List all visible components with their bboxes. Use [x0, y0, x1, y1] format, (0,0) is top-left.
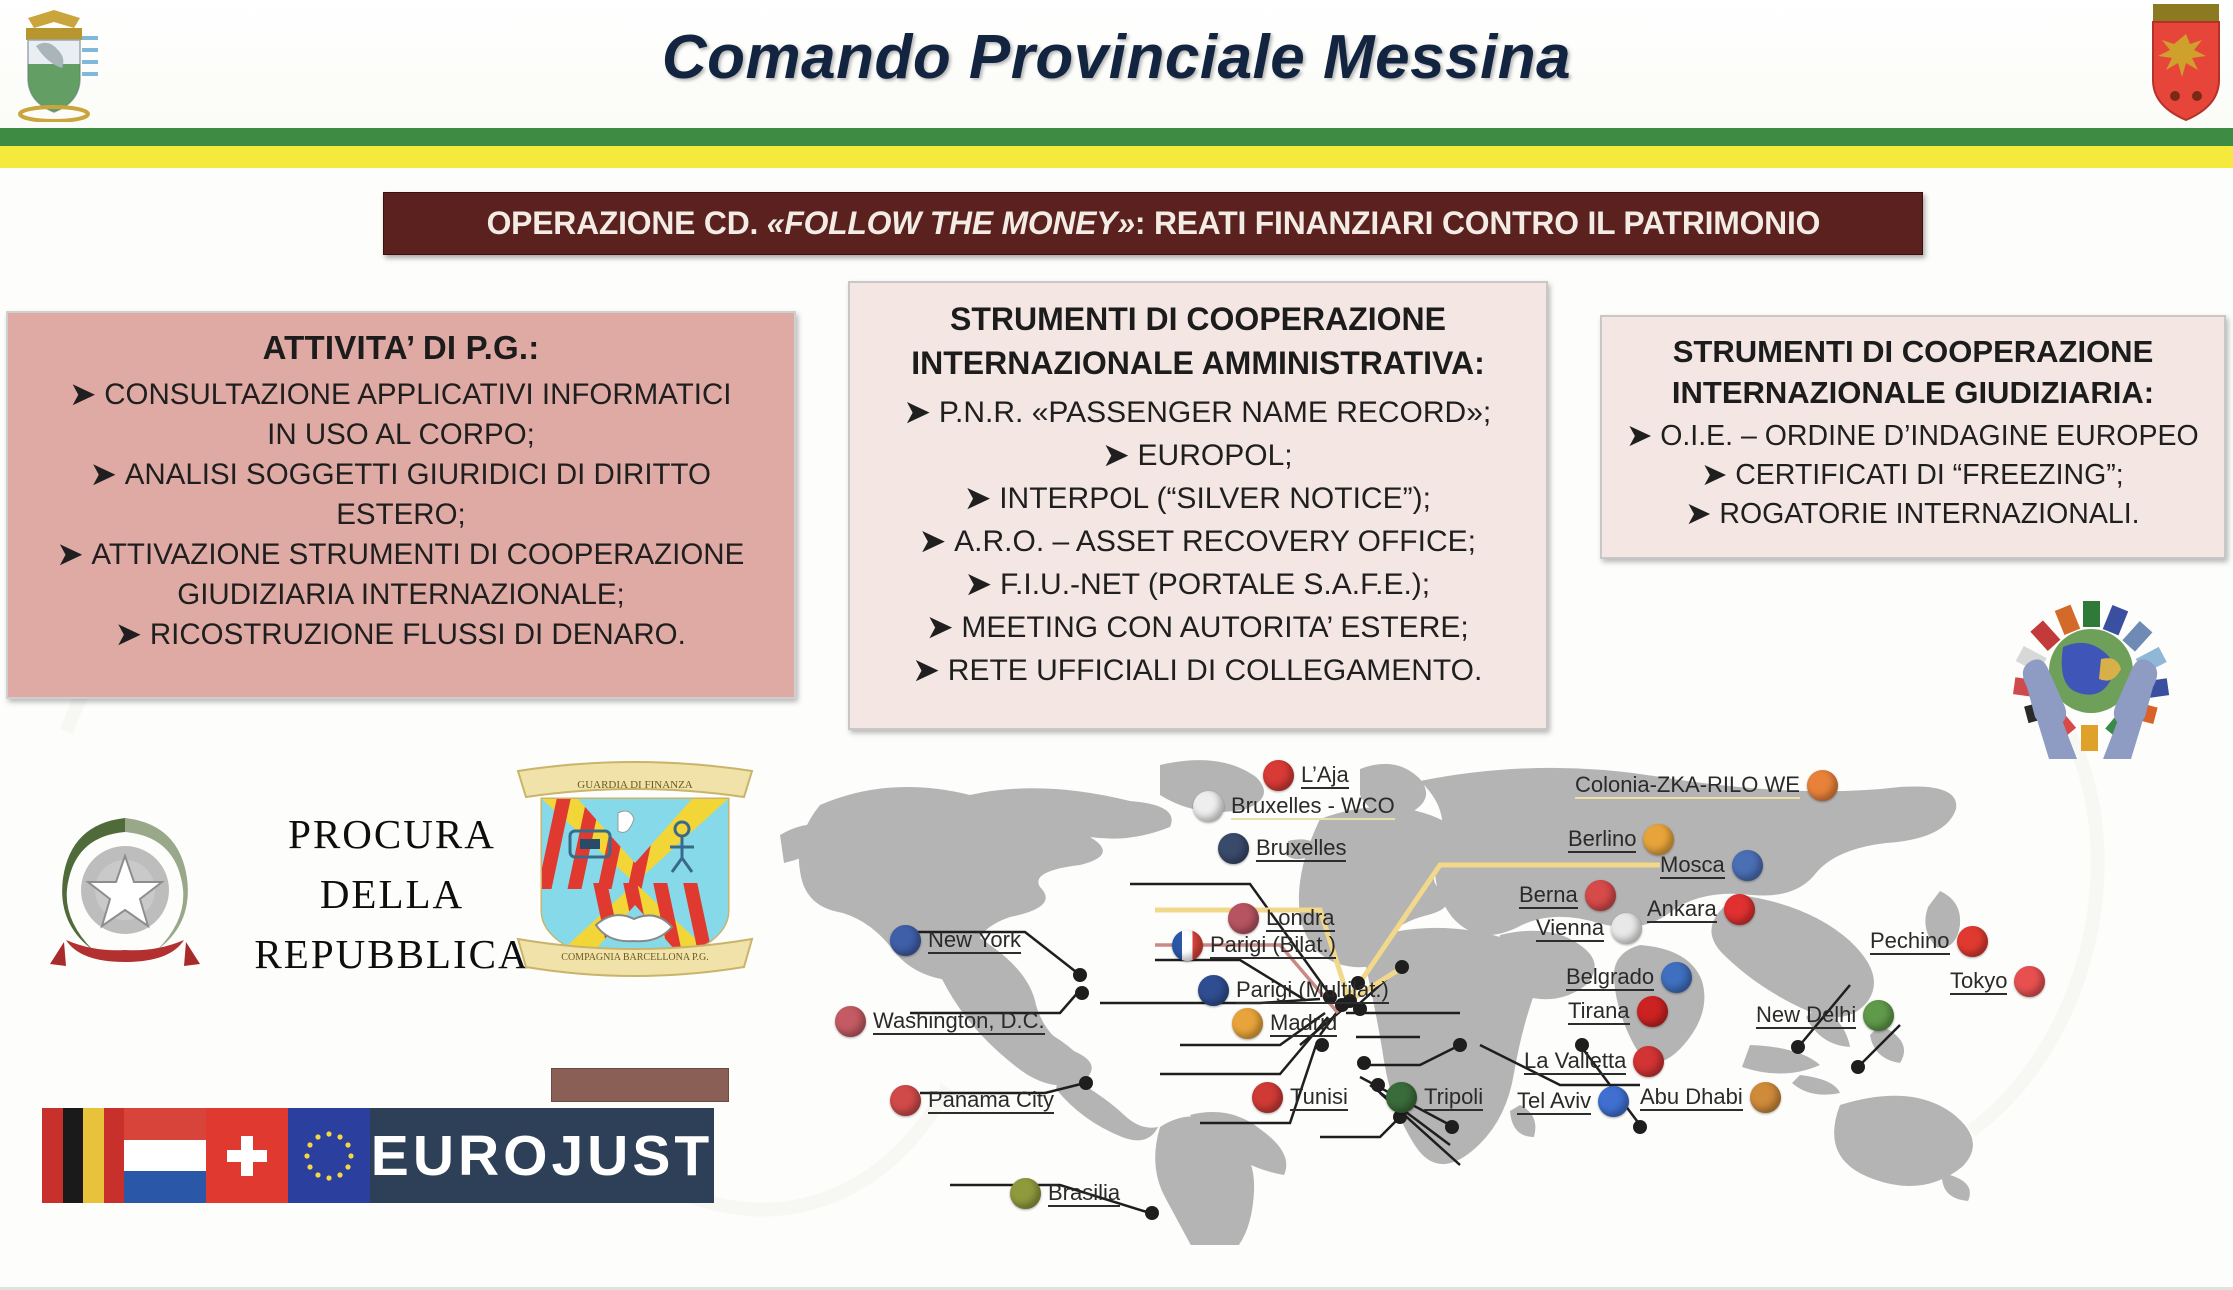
- india-flag-icon: [1863, 1000, 1894, 1031]
- map-city-tirana[interactable]: Tirana: [1568, 996, 1668, 1027]
- city-label: Tripoli: [1424, 1085, 1483, 1111]
- city-label: Brasilia: [1048, 1181, 1120, 1207]
- list-item: ➤ATTIVAZIONE STRUMENTI DI COOPERAZIONE: [18, 535, 784, 575]
- list-item-label: INTERPOL (“SILVER NOTICE”);: [999, 482, 1431, 515]
- city-label: Bruxelles - WCO: [1231, 794, 1395, 820]
- map-city-belgrado[interactable]: Belgrado: [1566, 962, 1692, 993]
- bullet-arrow-icon: ➤: [920, 525, 945, 558]
- list-item: ➤CONSULTAZIONE APPLICATIVI INFORMATICI: [18, 375, 784, 415]
- title-line-1: STRUMENTI DI COOPERAZIONE: [858, 297, 1538, 341]
- map-city-bruxelles-wco[interactable]: Bruxelles - WCO: [1193, 791, 1395, 822]
- list-item: ➤O.I.E. – ORDINE D’INDAGINE EUROPEO: [1610, 417, 2216, 456]
- banner-prefix: OPERAZIONE CD.: [486, 205, 766, 241]
- list-item-label: P.N.R. «PASSENGER NAME RECORD»;: [939, 396, 1491, 429]
- eurojust-wordmark: EUROJUST: [370, 1108, 714, 1203]
- svg-text:GUARDIA DI FINANZA: GUARDIA DI FINANZA: [577, 779, 693, 791]
- list-item-label: GIUDIZIARIA INTERNAZIONALE;: [177, 578, 624, 611]
- map-city-bruxelles[interactable]: Bruxelles: [1218, 833, 1346, 864]
- israel-flag-icon: [1598, 1086, 1629, 1117]
- map-city-parigi-multilat[interactable]: Parigi (Multilat.): [1198, 975, 1389, 1006]
- city-label: Abu Dhabi: [1640, 1085, 1743, 1111]
- city-label: Panama City: [928, 1088, 1054, 1114]
- switzerland-flag-icon: [206, 1108, 288, 1203]
- bullet-arrow-icon: ➤: [1686, 498, 1710, 530]
- box-attivita-pg-title: ATTIVITA’ DI P.G.:: [18, 329, 784, 367]
- map-city-washington-dc[interactable]: Washington, D.C.: [835, 1006, 1045, 1037]
- list-item-label: ATTIVAZIONE STRUMENTI DI COOPERAZIONE: [91, 538, 744, 571]
- city-label: Berna: [1519, 883, 1578, 909]
- map-city-tel-aviv[interactable]: Tel Aviv: [1517, 1086, 1629, 1117]
- bullet-arrow-icon: ➤: [91, 458, 116, 491]
- box-cooperazione-amministrativa-title: STRUMENTI DI COOPERAZIONE INTERNAZIONALE…: [858, 297, 1538, 385]
- list-item-label: IN USO AL CORPO;: [267, 418, 535, 451]
- map-city-new-york[interactable]: New York: [890, 925, 1021, 956]
- france-multilat-flag-icon: [1198, 975, 1229, 1006]
- map-city-berna[interactable]: Berna: [1519, 880, 1616, 911]
- title-line-2: INTERNAZIONALE AMMINISTRATIVA:: [858, 341, 1538, 385]
- map-city-panama-city[interactable]: Panama City: [890, 1085, 1054, 1116]
- box-cooperazione-giudiziaria: STRUMENTI DI COOPERAZIONE INTERNAZIONALE…: [1600, 315, 2226, 559]
- map-city-laja[interactable]: L’Aja: [1263, 760, 1349, 791]
- city-label: New Delhi: [1756, 1003, 1856, 1029]
- decorative-brown-bar: [551, 1068, 729, 1102]
- bullet-arrow-icon: ➤: [905, 396, 930, 429]
- map-city-colonia-zka-rilo-we[interactable]: Colonia-ZKA-RILO WE: [1575, 770, 1838, 801]
- map-city-la-valletta[interactable]: La Valletta: [1524, 1046, 1664, 1077]
- map-city-madrid[interactable]: Madrid: [1232, 1008, 1337, 1039]
- city-label: La Valletta: [1524, 1049, 1626, 1075]
- procura-line-1: PROCURA: [242, 804, 542, 864]
- operation-banner: OPERAZIONE CD. «FOLLOW THE MONEY»: REATI…: [383, 192, 1923, 255]
- germany-rilo-flag-icon: [1807, 770, 1838, 801]
- box-cooperazione-giudiziaria-title: STRUMENTI DI COOPERAZIONE INTERNAZIONALE…: [1610, 331, 2216, 413]
- map-city-parigi-bilat[interactable]: Parigi (Bilat.): [1172, 930, 1336, 961]
- switzerland-flag-icon: [1585, 880, 1616, 911]
- eurojust-logo: EUROJUST: [42, 1108, 714, 1203]
- list-item: IN USO AL CORPO;: [18, 415, 784, 455]
- list-item: ➤F.I.U.-NET (PORTALE S.A.F.E.);: [858, 563, 1538, 606]
- map-city-tripoli[interactable]: Tripoli: [1386, 1082, 1483, 1113]
- panama-city-flag-icon: [890, 1085, 921, 1116]
- map-city-ankara[interactable]: Ankara: [1647, 894, 1755, 925]
- map-city-tunisi[interactable]: Tunisi: [1252, 1082, 1348, 1113]
- city-label: Tel Aviv: [1517, 1089, 1591, 1115]
- list-item-label: O.I.E. – ORDINE D’INDAGINE EUROPEO: [1660, 420, 2198, 452]
- list-item: ➤EUROPOL;: [858, 434, 1538, 477]
- list-item-label: ANALISI SOGGETTI GIURIDICI DI DIRITTO: [125, 458, 711, 491]
- bullet-arrow-icon: ➤: [1702, 459, 1726, 491]
- city-label: New York: [928, 928, 1021, 954]
- procura-della-repubblica-logo: PROCURA DELLA REPUBBLICA: [30, 800, 540, 990]
- list-item-label: A.R.O. – ASSET RECOVERY OFFICE;: [954, 525, 1476, 558]
- austria-flag-icon: [1611, 913, 1642, 944]
- guardia-di-finanza-compagnia-crest-icon: GUARDIA DI FINANZA: [500, 755, 770, 980]
- list-item-label: ESTERO;: [336, 498, 466, 531]
- list-item: ➤RICOSTRUZIONE FLUSSI DI DENARO.: [18, 615, 784, 655]
- header-stripe-green: [0, 128, 2233, 146]
- bullet-arrow-icon: ➤: [927, 611, 952, 644]
- city-label: Tunisi: [1290, 1085, 1348, 1111]
- japan-flag-icon: [2014, 966, 2045, 997]
- city-label: Tokyo: [1950, 969, 2007, 995]
- list-item: ➤ANALISI SOGGETTI GIURIDICI DI DIRITTO: [18, 455, 784, 495]
- list-item: ➤P.N.R. «PASSENGER NAME RECORD»;: [858, 391, 1538, 434]
- european-union-flag-icon: [288, 1108, 370, 1203]
- procura-line-2: DELLA: [242, 864, 542, 924]
- netherlands-flag-icon: [1263, 760, 1294, 791]
- city-label: Parigi (Bilat.): [1210, 933, 1336, 959]
- map-city-pechino[interactable]: Pechino: [1870, 926, 1988, 957]
- bullet-arrow-icon: ➤: [116, 618, 141, 651]
- city-label: Belgrado: [1566, 965, 1654, 991]
- operation-banner-text: OPERAZIONE CD. «FOLLOW THE MONEY»: REATI…: [486, 205, 1820, 242]
- city-label: Mosca: [1660, 853, 1725, 879]
- list-item-label: CERTIFICATI DI “FREEZING”;: [1735, 459, 2123, 491]
- page-header: Comando Provinciale Messina: [0, 0, 2233, 128]
- turkey-flag-icon: [1724, 894, 1755, 925]
- box-cooperazione-amministrativa-list: ➤P.N.R. «PASSENGER NAME RECORD»; ➤EUROPO…: [858, 391, 1538, 692]
- list-item-label: CONSULTAZIONE APPLICATIVI INFORMATICI: [104, 378, 731, 411]
- city-label: Madrid: [1270, 1011, 1337, 1037]
- bullet-arrow-icon: ➤: [914, 654, 939, 687]
- bullet-arrow-icon: ➤: [71, 378, 96, 411]
- list-item: ➤CERTIFICATI DI “FREEZING”;: [1610, 456, 2216, 495]
- procura-label-block: PROCURA DELLA REPUBBLICA: [242, 804, 542, 984]
- city-label: Washington, D.C.: [873, 1009, 1045, 1035]
- box-cooperazione-giudiziaria-list: ➤O.I.E. – ORDINE D’INDAGINE EUROPEO ➤CER…: [1610, 417, 2216, 534]
- list-item: GIUDIZIARIA INTERNAZIONALE;: [18, 575, 784, 615]
- map-city-mosca[interactable]: Mosca: [1660, 850, 1763, 881]
- map-city-new-delhi[interactable]: New Delhi: [1756, 1000, 1894, 1031]
- banner-operation-name: «FOLLOW THE MONEY»: [766, 205, 1134, 241]
- spain-flag-icon: [1232, 1008, 1263, 1039]
- list-item: ➤A.R.O. – ASSET RECOVERY OFFICE;: [858, 520, 1538, 563]
- list-item: ➤INTERPOL (“SILVER NOTICE”);: [858, 477, 1538, 520]
- city-label: Ankara: [1647, 897, 1717, 923]
- serbia-flag-icon: [1661, 962, 1692, 993]
- list-item: ➤ROGATORIE INTERNAZIONALI.: [1610, 495, 2216, 534]
- belgium-flag-icon: [42, 1108, 124, 1203]
- uae-flag-icon: [1750, 1082, 1781, 1113]
- map-city-berlino[interactable]: Berlino: [1568, 824, 1674, 855]
- libya-flag-icon: [1386, 1082, 1417, 1113]
- france-flag-icon: [1172, 930, 1203, 961]
- tunisia-flag-icon: [1252, 1082, 1283, 1113]
- list-item-label: RICOSTRUZIONE FLUSSI DI DENARO.: [150, 618, 686, 651]
- page-title: Comando Provinciale Messina: [0, 22, 2233, 93]
- city-label: Tirana: [1568, 999, 1630, 1025]
- city-label: Pechino: [1870, 929, 1950, 955]
- bruxelles-flag-icon: [1218, 833, 1249, 864]
- brasilia-flag-icon: [1010, 1178, 1041, 1209]
- city-label: L’Aja: [1301, 763, 1349, 789]
- list-item-label: RETE UFFICIALI DI COLLEGAMENTO.: [948, 654, 1483, 687]
- list-item-label: ROGATORIE INTERNAZIONALI.: [1719, 498, 2139, 530]
- box-cooperazione-amministrativa: STRUMENTI DI COOPERAZIONE INTERNAZIONALE…: [848, 281, 1548, 730]
- svg-text:COMPAGNIA BARCELLONA P.G.: COMPAGNIA BARCELLONA P.G.: [561, 952, 708, 963]
- city-label: Bruxelles: [1256, 836, 1346, 862]
- guardia-di-finanza-eagle-shield-icon: [2131, 0, 2227, 122]
- title-line-2: INTERNAZIONALE GIUDIZIARIA:: [1610, 372, 2216, 413]
- bullet-arrow-icon: ➤: [1103, 439, 1128, 472]
- bullet-arrow-icon: ➤: [58, 538, 83, 571]
- city-label: Parigi (Multilat.): [1236, 978, 1389, 1004]
- title-line-1: STRUMENTI DI COOPERAZIONE: [1610, 331, 2216, 372]
- city-label: Berlino: [1568, 827, 1636, 853]
- bullet-arrow-icon: ➤: [1627, 420, 1651, 452]
- list-item: ESTERO;: [18, 495, 784, 535]
- netherlands-flag-icon: [124, 1108, 206, 1203]
- russia-flag-icon: [1732, 850, 1763, 881]
- city-label: Vienna: [1536, 916, 1604, 942]
- map-city-abu-dhabi[interactable]: Abu Dhabi: [1640, 1082, 1781, 1113]
- china-flag-icon: [1957, 926, 1988, 957]
- washington-dc-flag-icon: [835, 1006, 866, 1037]
- globe-with-flags-in-hands-icon: [1975, 595, 2205, 760]
- map-city-vienna[interactable]: Vienna: [1536, 913, 1642, 944]
- list-item: ➤MEETING CON AUTORITA’ ESTERE;: [858, 606, 1538, 649]
- banner-suffix: : REATI FINANZIARI CONTRO IL PATRIMONIO: [1134, 205, 1819, 241]
- malta-flag-icon: [1633, 1046, 1664, 1077]
- list-item-label: F.I.U.-NET (PORTALE S.A.F.E.);: [1000, 568, 1430, 601]
- city-label: Colonia-ZKA-RILO WE: [1575, 773, 1800, 799]
- list-item-label: EUROPOL;: [1138, 439, 1293, 472]
- box-attivita-pg-list: ➤CONSULTAZIONE APPLICATIVI INFORMATICI I…: [18, 375, 784, 655]
- albania-flag-icon: [1637, 996, 1668, 1027]
- list-item: ➤RETE UFFICIALI DI COLLEGAMENTO.: [858, 649, 1538, 692]
- list-item-label: MEETING CON AUTORITA’ ESTERE;: [961, 611, 1468, 644]
- new-york-flag-icon: [890, 925, 921, 956]
- city-label: Londra: [1266, 906, 1335, 932]
- map-city-brasilia[interactable]: Brasilia: [1010, 1178, 1120, 1209]
- header-stripe-yellow: [0, 146, 2233, 168]
- procura-line-3: REPUBBLICA: [242, 924, 542, 984]
- bullet-arrow-icon: ➤: [965, 482, 990, 515]
- italian-republic-emblem-icon: [30, 800, 220, 985]
- wco-badge-icon: [1193, 791, 1224, 822]
- map-city-tokyo[interactable]: Tokyo: [1950, 966, 2045, 997]
- bullet-arrow-icon: ➤: [966, 568, 991, 601]
- box-attivita-pg: ATTIVITA’ DI P.G.: ➤CONSULTAZIONE APPLIC…: [6, 311, 796, 699]
